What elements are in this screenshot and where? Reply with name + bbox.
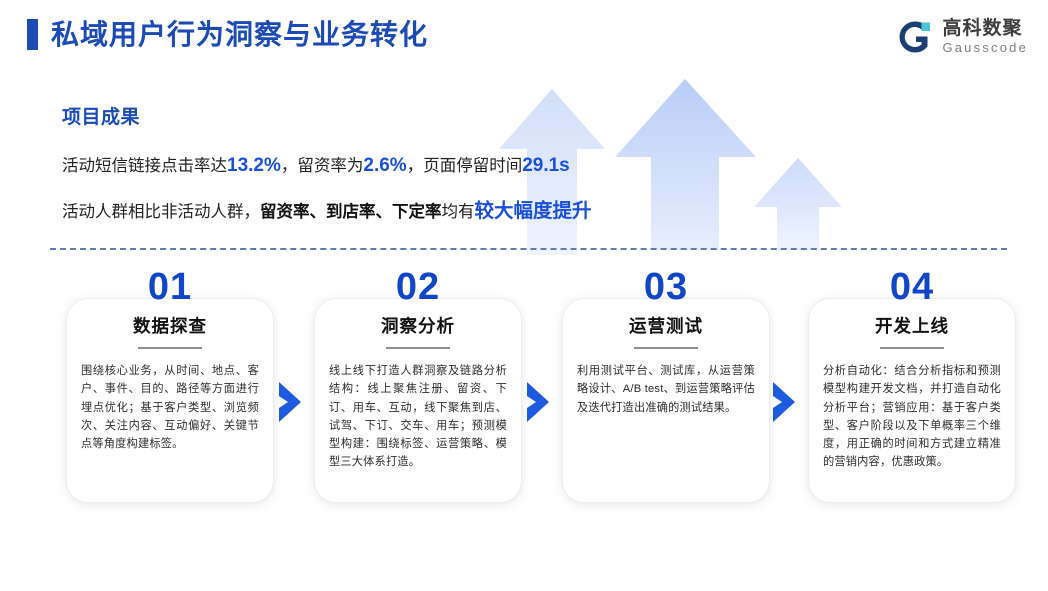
step-number-4: 04: [808, 268, 1016, 306]
step-rule-2: [386, 347, 450, 349]
results-line1-part1: 活动短信链接点击率达: [62, 157, 227, 175]
slide-header: 私域用户行为洞察与业务转化 高科数聚 Gausscode: [0, 0, 1048, 78]
chevron-right-icon-3: [771, 380, 797, 424]
step-title-1: 数据探查: [81, 317, 259, 336]
results-line2-emphasis: 留资率、到店率、下定率: [260, 203, 442, 221]
title-accent-bar: [27, 19, 38, 50]
step-rule-4: [880, 347, 944, 349]
logo-name-en: Gausscode: [942, 40, 1028, 56]
step-body-4: 分析自动化：结合分析指标和预测模型构建开发文档，并打造自动化分析平台；营销应用：…: [823, 362, 1001, 471]
metric-lead-rate: 2.6%: [363, 155, 406, 176]
decorative-arrow-right: [752, 155, 844, 250]
step-title-4: 开发上线: [823, 317, 1001, 336]
chevron-right-icon-1: [277, 380, 303, 424]
chevron-right-icon-2: [525, 380, 551, 424]
step-rule-1: [138, 347, 202, 349]
step-card-4[interactable]: 04 开发上线 分析自动化：结合分析指标和预测模型构建开发文档，并打造自动化分析…: [808, 268, 1016, 503]
results-heading: 项目成果: [62, 108, 742, 127]
step-title-2: 洞察分析: [329, 317, 507, 336]
logo-text-block: 高科数聚 Gausscode: [942, 19, 1028, 56]
step-title-3: 运营测试: [577, 317, 755, 336]
results-line1-part2: ，留资率为: [281, 157, 364, 175]
dashed-divider: [50, 248, 1007, 250]
results-line2-highlight: 较大幅度提升: [475, 200, 592, 222]
metric-click-rate: 13.2%: [227, 155, 281, 176]
step-card-1[interactable]: 01 数据探查 围绕核心业务，从时间、地点、客户、事件、目的、路径等方面进行埋点…: [66, 268, 274, 503]
step-card-3[interactable]: 03 运营测试 利用测试平台、测试库，从运营策略设计、A/B test、到运营策…: [562, 268, 770, 503]
results-line-comparison: 活动人群相比非活动人群，留资率、到店率、下定率均有较大幅度提升: [62, 198, 742, 224]
steps-container: 01 数据探查 围绕核心业务，从时间、地点、客户、事件、目的、路径等方面进行埋点…: [0, 268, 1048, 533]
results-line2-part1: 活动人群相比非活动人群，: [62, 203, 260, 221]
brand-logo: 高科数聚 Gausscode: [896, 18, 1028, 56]
results-line1-part3: ，页面停留时间: [407, 157, 523, 175]
logo-name-cn: 高科数聚: [942, 19, 1028, 39]
title-row: 私域用户行为洞察与业务转化: [27, 19, 428, 50]
step-number-2: 02: [314, 268, 522, 306]
step-number-1: 01: [66, 268, 274, 306]
step-body-2: 线上线下打造人群洞察及链路分析结构：线上聚焦注册、留资、下订、用车、互动，线下聚…: [329, 362, 507, 471]
step-panel-1[interactable]: 数据探查 围绕核心业务，从时间、地点、客户、事件、目的、路径等方面进行埋点优化；…: [66, 298, 274, 503]
slide-root: 私域用户行为洞察与业务转化 高科数聚 Gausscode 项目成果 活动短信链接…: [0, 0, 1048, 591]
step-card-2[interactable]: 02 洞察分析 线上线下打造人群洞察及链路分析结构：线上聚焦注册、留资、下订、用…: [314, 268, 522, 503]
step-number-3: 03: [562, 268, 770, 306]
project-results-block: 项目成果 活动短信链接点击率达13.2%，留资率为2.6%，页面停留时间29.1…: [62, 108, 742, 243]
step-body-3: 利用测试平台、测试库，从运营策略设计、A/B test、到运营策略评估及迭代打造…: [577, 362, 755, 416]
gausscode-g-mark-icon: [896, 18, 934, 56]
metric-dwell-time: 29.1s: [522, 155, 570, 176]
results-line-metrics: 活动短信链接点击率达13.2%，留资率为2.6%，页面停留时间29.1s: [62, 153, 742, 179]
step-rule-3: [634, 347, 698, 349]
step-panel-3[interactable]: 运营测试 利用测试平台、测试库，从运营策略设计、A/B test、到运营策略评估…: [562, 298, 770, 503]
page-title: 私域用户行为洞察与业务转化: [51, 21, 428, 49]
step-panel-4[interactable]: 开发上线 分析自动化：结合分析指标和预测模型构建开发文档，并打造自动化分析平台；…: [808, 298, 1016, 503]
results-line2-part2: 均有: [442, 203, 475, 221]
step-body-1: 围绕核心业务，从时间、地点、客户、事件、目的、路径等方面进行埋点优化；基于客户类…: [81, 362, 259, 453]
step-panel-2[interactable]: 洞察分析 线上线下打造人群洞察及链路分析结构：线上聚焦注册、留资、下订、用车、互…: [314, 298, 522, 503]
